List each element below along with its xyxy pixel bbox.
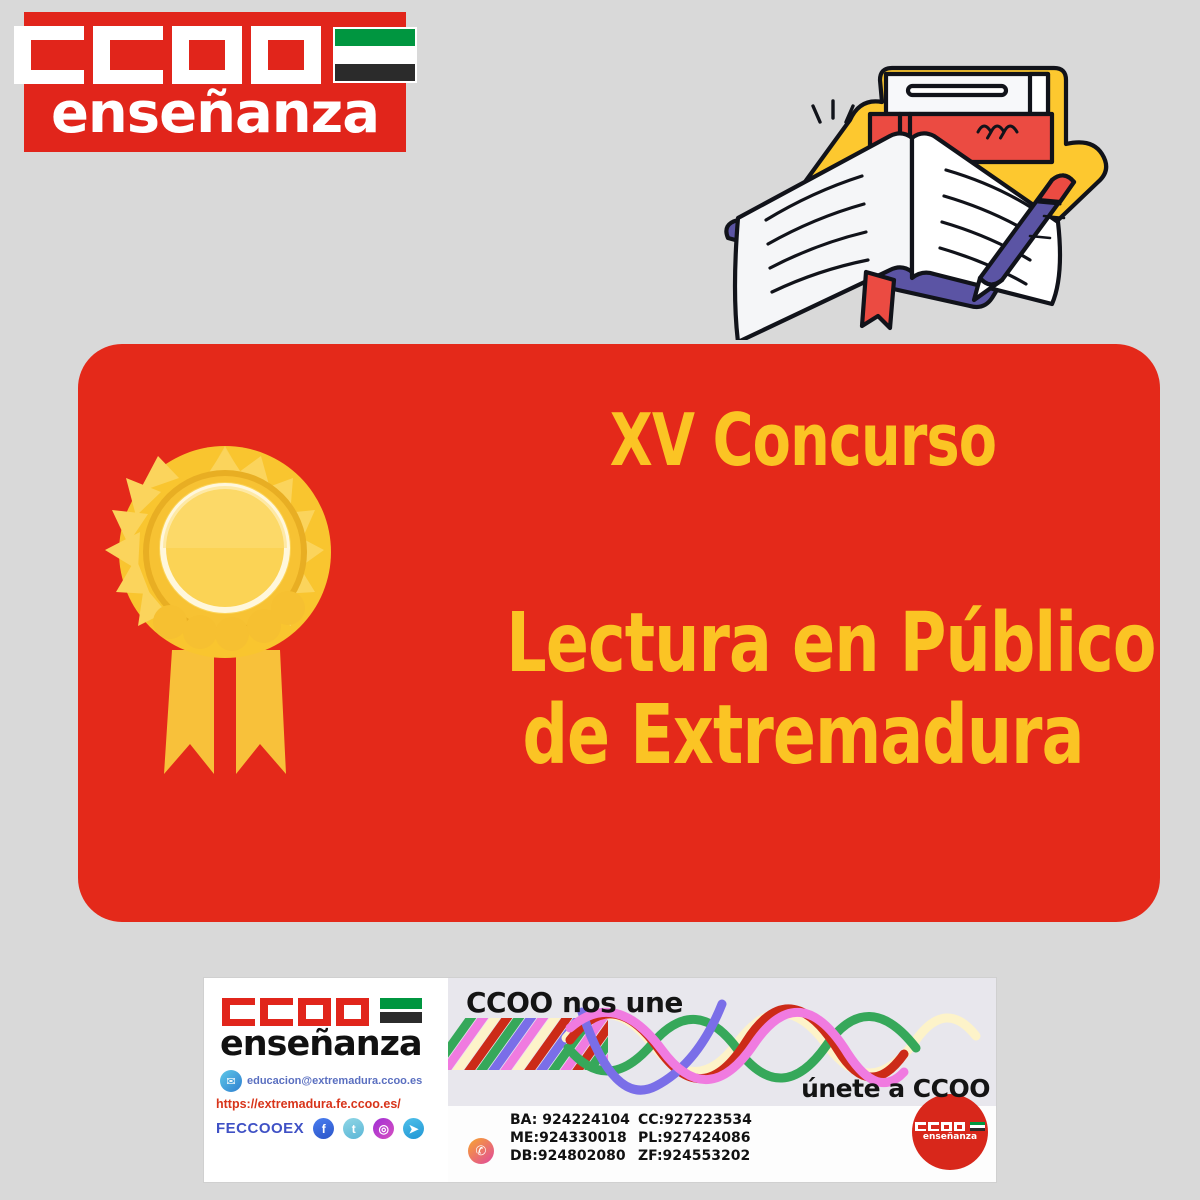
extremadura-flag-icon bbox=[970, 1122, 985, 1131]
facebook-icon[interactable]: f bbox=[313, 1118, 334, 1139]
title-line-2: Lectura en Público bbox=[506, 598, 1099, 690]
telegram-icon[interactable]: ➤ bbox=[403, 1118, 424, 1139]
open-book-and-pencil-illustration bbox=[700, 50, 1120, 340]
envelope-icon: ✉ bbox=[220, 1070, 242, 1092]
ccoo-ensenanza-logo: enseñanza bbox=[24, 12, 406, 152]
banner-logo-subtitle: enseñanza bbox=[220, 1027, 442, 1062]
title-line-1: XV Concurso bbox=[506, 404, 1099, 476]
award-rosette-icon bbox=[100, 436, 350, 784]
slogan-top: CCOO nos une bbox=[466, 986, 683, 1019]
website-link[interactable]: https://extremadura.fe.ccoo.es/ bbox=[216, 1097, 442, 1111]
letter-c-icon bbox=[14, 26, 84, 84]
email-row[interactable]: ✉ educacion@extremadura.ccoo.es bbox=[220, 1070, 442, 1092]
phone-item: CC:927223534 bbox=[638, 1112, 766, 1128]
extremadura-flag-icon bbox=[380, 998, 422, 1026]
banner-left-contact-block: enseñanza ✉ educacion@extremadura.ccoo.e… bbox=[204, 978, 448, 1182]
slogan-bottom: únete a CCOO bbox=[801, 1074, 990, 1103]
twitter-icon[interactable]: t bbox=[343, 1118, 364, 1139]
phone-item: DB:924802080 bbox=[510, 1148, 638, 1164]
badge-subtitle: enseñanza bbox=[923, 1132, 977, 1142]
title-line-3: de Extremadura bbox=[506, 690, 1099, 782]
phone-icon: ✆ bbox=[468, 1138, 494, 1164]
banner-ccoo-wordmark bbox=[222, 998, 442, 1026]
letter-o-icon bbox=[336, 998, 369, 1026]
phone-item: ZF:924553202 bbox=[638, 1148, 766, 1164]
title-block-2: Lectura en Público de Extremadura bbox=[458, 598, 1148, 782]
instagram-icon[interactable]: ◎ bbox=[373, 1118, 394, 1139]
logo-subtitle: enseñanza bbox=[51, 86, 379, 142]
letter-c-icon bbox=[928, 1122, 939, 1131]
letter-o-icon bbox=[172, 26, 242, 84]
banner-right-block: CCOO nos une únete a CCOO ✆ BA: 92422410… bbox=[448, 978, 996, 1182]
letter-o-icon bbox=[251, 26, 321, 84]
letter-c-icon bbox=[93, 26, 163, 84]
letter-o-icon bbox=[954, 1122, 965, 1131]
letter-c-icon bbox=[222, 998, 255, 1026]
extremadura-flag-icon bbox=[333, 27, 417, 83]
phone-item: ME:924330018 bbox=[510, 1130, 638, 1146]
phone-item: BA: 924224104 bbox=[510, 1112, 638, 1128]
card-title-block: XV Concurso Lectura en Público de Extrem… bbox=[458, 404, 1148, 782]
phone-list: BA: 924224104 CC:927223534 ME:924330018 … bbox=[510, 1112, 766, 1164]
letter-c-icon bbox=[260, 998, 293, 1026]
badge-wordmark bbox=[915, 1122, 985, 1131]
email-text[interactable]: educacion@extremadura.ccoo.es bbox=[247, 1075, 422, 1087]
ccoo-wordmark bbox=[14, 26, 321, 84]
letter-o-icon bbox=[298, 998, 331, 1026]
contact-banner: enseñanza ✉ educacion@extremadura.ccoo.e… bbox=[204, 978, 996, 1182]
letter-c-icon bbox=[915, 1122, 926, 1131]
social-row: FECCOOEX f t ◎ ➤ bbox=[216, 1118, 442, 1139]
letter-o-icon bbox=[941, 1122, 952, 1131]
ccoo-circle-badge: enseñanza bbox=[912, 1094, 988, 1170]
main-red-card: XV Concurso Lectura en Público de Extrem… bbox=[78, 344, 1160, 922]
phone-item: PL:927424086 bbox=[638, 1130, 766, 1146]
social-handle: FECCOOEX bbox=[216, 1120, 304, 1137]
logo-top-row bbox=[14, 26, 417, 84]
